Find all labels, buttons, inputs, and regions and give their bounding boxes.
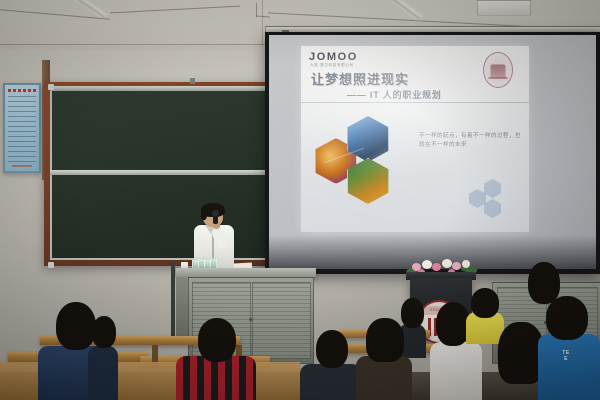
classroom-photo: ◣ 坐以论道 JOMOO 九牧·厨卫科技有限公司 让梦想照进现实 —— IT 人… <box>0 0 600 400</box>
photo-vignette <box>0 0 600 400</box>
